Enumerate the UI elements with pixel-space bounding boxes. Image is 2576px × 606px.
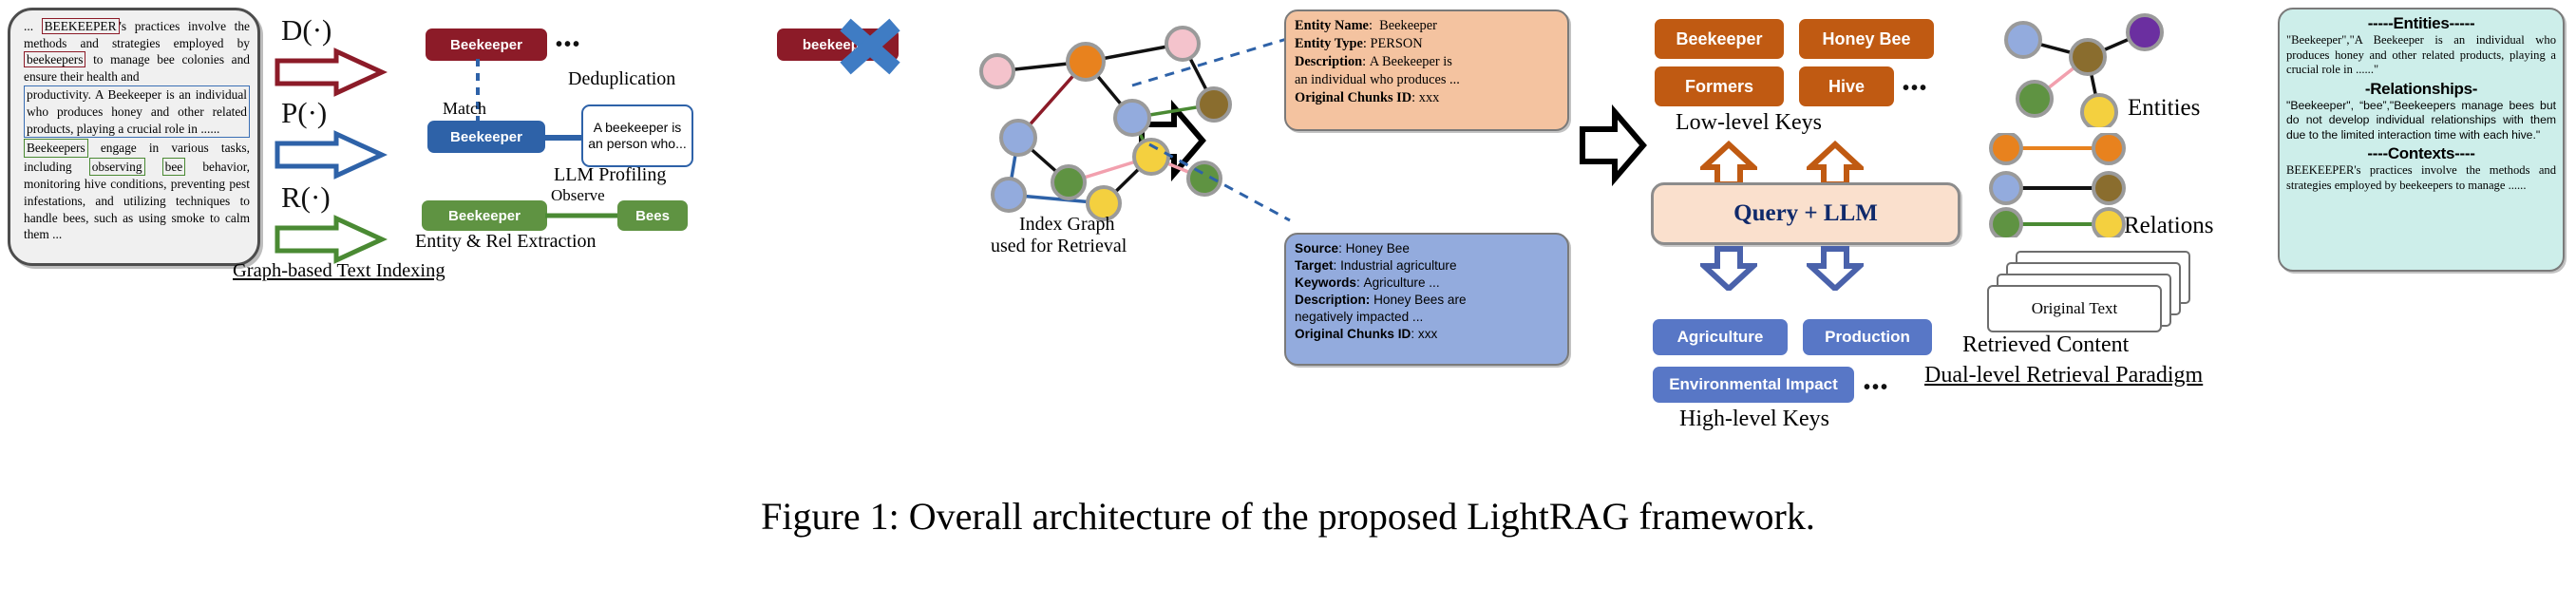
relation-keywords-value: Agriculture ... [1364, 275, 1440, 290]
dedup-caption: Deduplication [568, 68, 675, 90]
doc-tail-block: Beekeepers engage in various tasks, incl… [24, 139, 250, 243]
extract-caption: Entity & Rel Extraction [415, 231, 597, 253]
low-key-formers[interactable]: Formers [1655, 66, 1784, 106]
graph-caption-line2: used for Retrieval [991, 236, 1127, 257]
relationships-section-body: "Beekeeper", “bee”,"Beekeepers manage be… [2286, 99, 2556, 142]
low-key-hive[interactable]: Hive [1799, 66, 1894, 106]
entity-description-cont: an individual who produces ... [1295, 72, 1460, 87]
extract-pill-target: Bees [617, 200, 688, 231]
extract-edge-label: Observe [551, 186, 605, 205]
highlight-profile-block: productivity. A Beekeeper is an individu… [24, 85, 250, 138]
relationships-section-head: -Relationships- [2286, 80, 2556, 99]
high-keys-ellipsis: ••• [1864, 377, 1889, 399]
relation-keywords-label: Keywords [1295, 275, 1356, 290]
operator-extract-label: R(·) [281, 180, 331, 215]
graph-caption-line1: Index Graph [1019, 214, 1115, 236]
entity-type-label: Entity Type [1295, 36, 1363, 51]
highlight-beekeeper-upper: BEEKEEPER [42, 18, 120, 34]
high-key-environmental-impact[interactable]: Environmental Impact [1653, 367, 1854, 403]
original-text-card[interactable]: Original Text [1987, 285, 2162, 332]
low-key-honey-bee[interactable]: Honey Bee [1799, 19, 1934, 59]
result-panel: -----Entities----- "Beekeeper","A Beekee… [2278, 8, 2565, 272]
entity-name-label: Entity Name [1295, 18, 1369, 33]
source-document-card: ... BEEKEEPER's practices involve the me… [8, 8, 260, 266]
entities-section-body: "Beekeeper","A Beekeeper is an individua… [2286, 33, 2556, 78]
relation-description-label: Description: [1295, 293, 1370, 307]
relation-chunk-label: Original Chunks ID [1295, 327, 1411, 341]
section-title-retrieval: Dual-level Retrieval Paradigm [1924, 363, 2203, 388]
dedup-pill-keep: Beekeeper [426, 28, 547, 61]
high-key-agriculture[interactable]: Agriculture [1653, 319, 1788, 355]
highlight-observing: observing [89, 158, 145, 177]
high-level-keys-caption: High-level Keys [1679, 407, 1829, 432]
low-keys-ellipsis: ••• [1903, 78, 1928, 100]
relation-description-value: Honey Bees are [1373, 293, 1466, 307]
entity-chunk-label: Original Chunks ID [1295, 90, 1411, 105]
arrow-to-retrieval [1577, 104, 1647, 186]
graph-card-leaders [1121, 21, 1292, 239]
low-key-beekeeper[interactable]: Beekeeper [1655, 19, 1784, 59]
relation-target-value: Industrial agriculture [1340, 258, 1456, 273]
entities-section-head: -----Entities----- [2286, 14, 2556, 33]
entity-name-value: Beekeeper [1379, 18, 1437, 33]
extract-edge [545, 210, 619, 221]
extract-pill-source: Beekeeper [422, 200, 547, 231]
relation-description-cont: negatively impacted ... [1295, 310, 1423, 324]
arrow-down-high-2 [1807, 245, 1864, 291]
arrow-extract [274, 213, 388, 266]
figure-caption: Figure 1: Overall architecture of the pr… [0, 494, 2576, 539]
entity-type-value: PERSON [1370, 36, 1422, 51]
arrow-down-high-1 [1700, 245, 1757, 291]
operator-profile-label: P(·) [281, 96, 327, 130]
profile-pill: Beekeeper [427, 121, 545, 153]
relation-source-label: Source [1295, 241, 1338, 256]
high-key-production[interactable]: Production [1803, 319, 1932, 355]
entity-card: Entity Name: Beekeeper Entity Type: PERS… [1284, 9, 1569, 131]
source-document-text: ... BEEKEEPER's practices involve the me… [24, 18, 250, 263]
relation-card: Source: Honey Bee Target: Industrial agr… [1284, 233, 1569, 366]
entity-description-value: A Beekeeper is [1370, 54, 1452, 69]
dedup-ellipsis: ••• [556, 34, 581, 56]
relation-source-value: Honey Bee [1346, 241, 1410, 256]
arrow-dedup [274, 46, 388, 99]
doc-line: ... [24, 19, 42, 33]
match-label: Match [443, 99, 486, 119]
relations-label: Relations [2124, 213, 2213, 239]
arrow-up-low-1 [1700, 141, 1757, 186]
highlight-bee: bee [162, 158, 186, 177]
arrow-up-low-2 [1807, 141, 1864, 186]
entity-chunk-value: xxx [1419, 90, 1440, 105]
section-title-indexing: Graph-based Text Indexing [233, 260, 445, 282]
highlight-beekeepers-green: Beekeepers [24, 139, 88, 158]
entities-label: Entities [2128, 95, 2200, 122]
relation-target-label: Target [1295, 258, 1334, 273]
retrieved-content-caption: Retrieved Content [1962, 332, 2129, 358]
operator-dedup-label: D(·) [281, 13, 331, 47]
profile-connector [543, 133, 585, 142]
contexts-section-body: BEEKEEPER's practices involve the method… [2286, 163, 2556, 193]
arrow-profile [274, 128, 388, 181]
entity-description-label: Description [1295, 54, 1362, 69]
contexts-section-head: ----Contexts---- [2286, 144, 2556, 163]
highlight-beekeepers: beekeepers [24, 51, 85, 67]
low-level-keys-caption: Low-level Keys [1676, 110, 1822, 136]
relation-chunk-value: xxx [1418, 327, 1437, 341]
profile-caption: LLM Profiling [554, 164, 666, 186]
profile-callout: A beekeeper is an person who... [581, 104, 693, 167]
query-llm-box[interactable]: Query + LLM [1651, 182, 1960, 245]
cross-out-icon [836, 15, 904, 78]
